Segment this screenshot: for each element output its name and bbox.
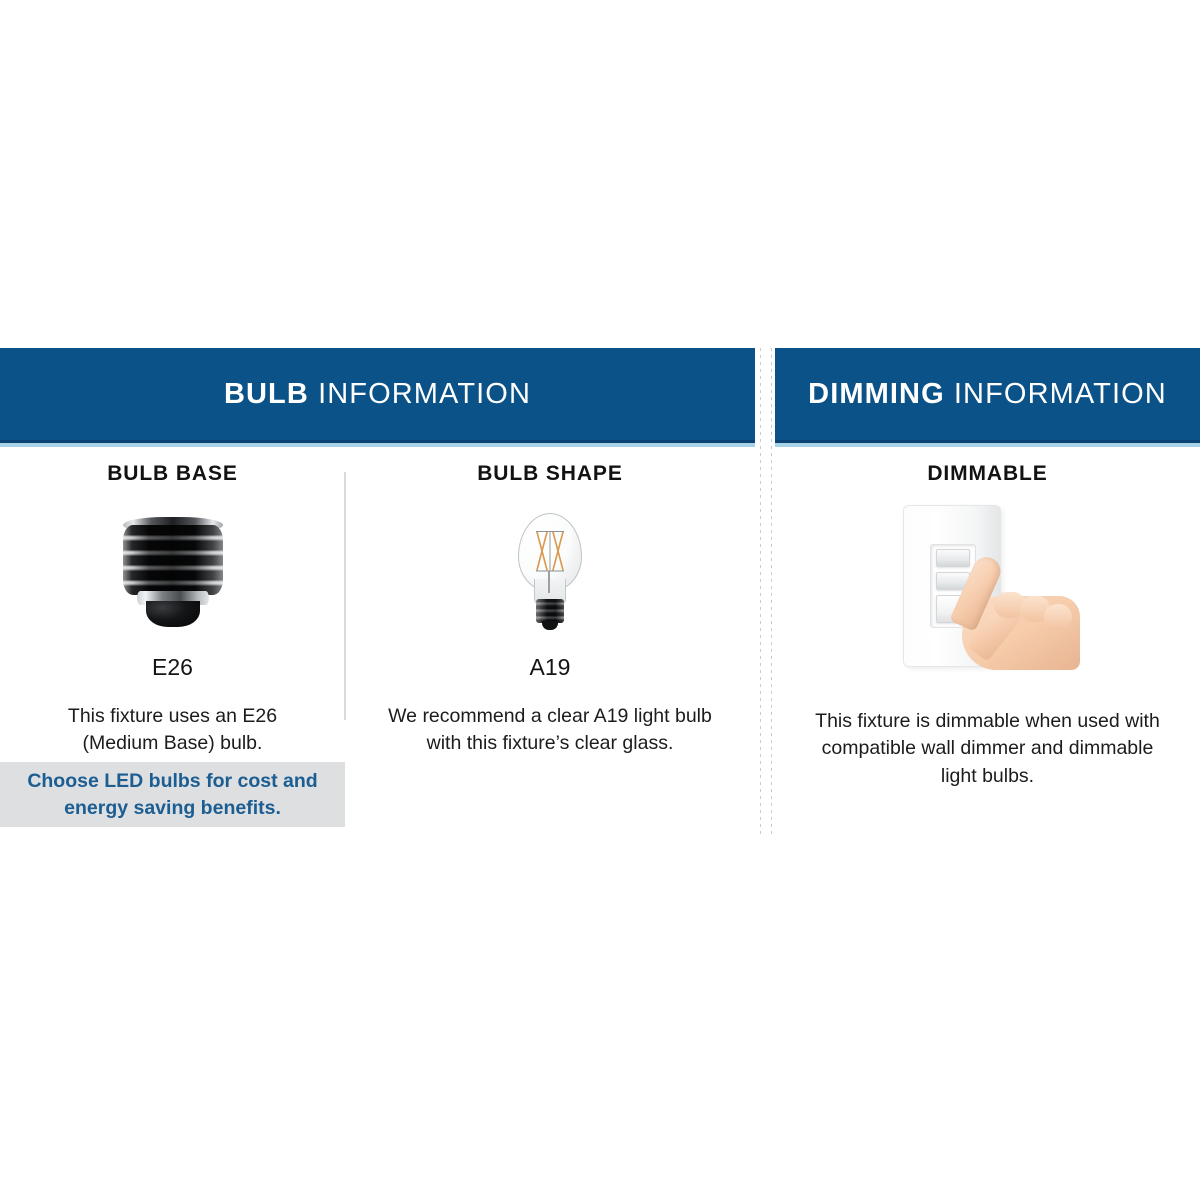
bulb-information-header: BULB INFORMATION [0,348,755,441]
a19-stem [548,571,550,593]
wall-dimmer-switch-icon [886,504,1071,689]
led-callout-banner: Choose LED bulbs for cost and energy sav… [0,762,345,827]
dimming-information-title: DIMMING INFORMATION [808,378,1167,411]
dimming-information-header: DIMMING INFORMATION [775,348,1200,441]
bulb-base-column: BULB BASE E26 This fixture uses an E26 (… [0,462,345,758]
panel-dotted-divider-right [771,348,772,835]
bulb-shape-title: BULB SHAPE [345,462,755,486]
bulb-shape-column: BULB SHAPE A19 We [345,462,755,758]
bulb-information-title-rest: INFORMATION [309,378,531,410]
a19-light-bulb-icon [514,513,586,633]
bulb-shape-spec: A19 [345,654,755,681]
e26-tip [146,601,200,627]
pointing-hand-icon [948,552,1080,668]
a19-base-tip [542,621,558,630]
bulb-information-title-strong: BULB [224,378,309,410]
bulb-header-underline [0,443,755,447]
dimming-information-title-rest: INFORMATION [945,378,1167,410]
bulb-base-art [0,498,345,648]
dimming-information-title-strong: DIMMING [808,378,945,410]
led-callout-text: Choose LED bulbs for cost and energy sav… [23,768,323,822]
panel-dotted-divider-left [760,348,761,835]
bulb-information-title: BULB INFORMATION [224,378,531,411]
a19-screw-base [536,599,564,623]
e26-bulb-base-icon [119,517,227,629]
dimmable-title: DIMMABLE [775,462,1200,486]
hand-knuckle-3 [1044,604,1072,630]
bulb-shape-description: We recommend a clear A19 light bulb with… [385,681,715,758]
dimmable-art [775,504,1200,694]
dimmable-column: DIMMABLE This fixture is dimmable when u… [775,462,1200,790]
dimming-header-underline [775,443,1200,447]
bulb-shape-art [345,498,755,648]
bulb-base-title: BULB BASE [0,462,345,486]
bulb-base-description: This fixture uses an E26 (Medium Base) b… [38,681,308,758]
dimmable-description: This fixture is dimmable when used with … [813,694,1163,790]
bulb-base-spec: E26 [0,654,345,681]
e26-threads [123,525,223,595]
a19-filament [534,529,566,575]
